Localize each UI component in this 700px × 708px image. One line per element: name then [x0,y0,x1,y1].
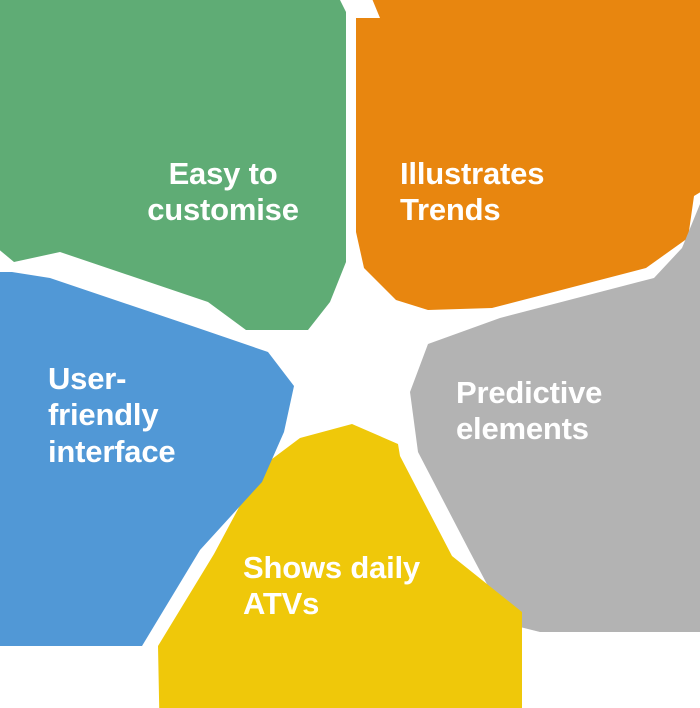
pinwheel-diagram: Easy to customise Illustrates Trends Pre… [0,0,700,708]
petal-shapes-svg [0,0,700,708]
petal-shape-illustrates-trends[interactable] [356,0,700,310]
